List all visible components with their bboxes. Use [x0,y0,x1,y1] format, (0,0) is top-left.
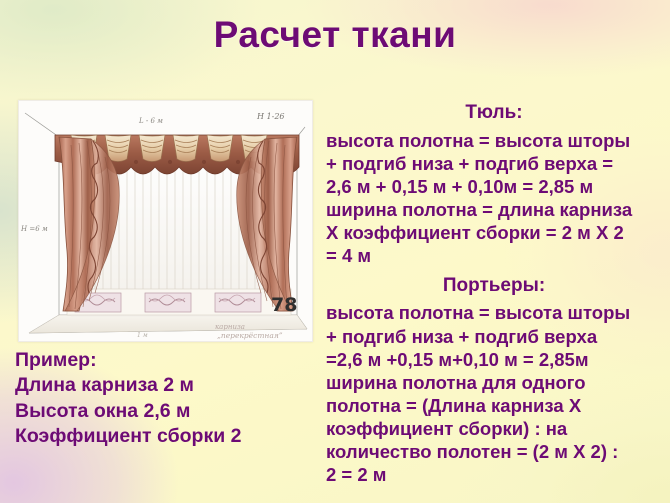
tulle-line-5: Х коэффициент сборки = 2 м Х 2 [326,221,662,244]
annotation-left: Н =6 м [20,225,48,233]
annotation-top-center: L - 6 м [138,117,163,125]
portiery-formula: высота полотна = высота шторы + подгиб н… [326,301,662,485]
tulle-line-2: + подгиб низа + подгиб верха = [326,152,662,175]
annotation-caption-right-1: карниза [215,323,245,331]
formulas-column: Тюль: высота полотна = высота шторы + по… [326,100,662,486]
portiery-line-8: 2 = 2 м [326,463,662,486]
annotation-top-right: Н 1-26 [256,112,285,121]
tulle-line-3: 2,6 м + 0,15 м + 0,10м = 2,85 м [326,175,662,198]
page-number: 78 [271,294,297,316]
portiery-line-2: + подгиб низа + подгиб верха [326,325,662,348]
tulle-heading: Тюль: [326,100,662,126]
curtain-design-image: L - 6 м Н 1-26 Н =6 м 1 м карниза „перек… [18,100,313,342]
tulle-line-4: ширина полотна = длина карниза [326,198,662,221]
portiery-line-5: полотна = (Длина карниза Х [326,394,662,417]
portiery-line-4: ширина полотна для одного [326,371,662,394]
tulle-formula: высота полотна = высота шторы + подгиб н… [326,129,662,267]
example-line-3: Коэффициент сборки 2 [15,424,335,449]
annotation-caption-right-2: „перекрёстная” [217,331,283,340]
example-heading: Пример: [15,348,335,373]
portiery-line-7: количество полотен = (2 м Х 2) : [326,440,662,463]
page-title: Расчет ткани [0,16,670,55]
example-block: Пример: Длина карниза 2 м Высота окна 2,… [15,348,335,449]
portiery-line-6: коэффициент сборки) : на [326,417,662,440]
tulle-line-1: высота полотна = высота шторы [326,129,662,152]
portiery-line-1: высота полотна = высота шторы [326,301,662,324]
slide-canvas: Расчет ткани [0,0,670,503]
baseboard-panels [67,289,291,315]
tulle-line-6: = 4 м [326,244,662,267]
portiery-heading: Портьеры: [326,273,662,299]
curtain-drawing-svg: L - 6 м Н 1-26 Н =6 м 1 м карниза „перек… [19,101,312,341]
portiery-line-3: =2,6 м +0,15 м+0,10 м = 2,85м [326,348,662,371]
example-line-2: Высота окна 2,6 м [15,399,335,424]
example-line-1: Длина карниза 2 м [15,373,335,398]
annotation-caption-left: 1 м [137,332,148,339]
